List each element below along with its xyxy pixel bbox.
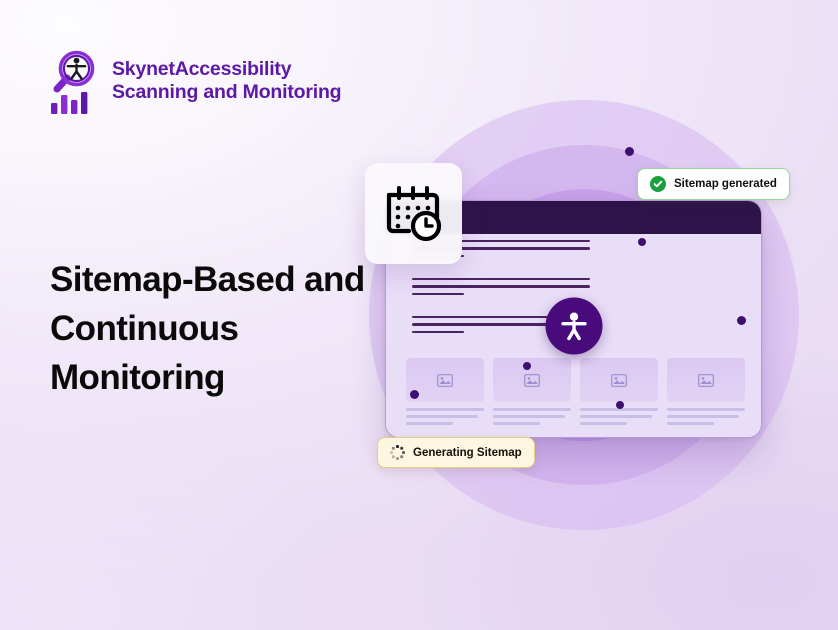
accent-dot xyxy=(638,238,646,246)
hero-banner: SkynetAccessibility Scanning and Monitor… xyxy=(0,0,838,630)
accessibility-person-icon xyxy=(545,298,602,355)
brand-line-2: Scanning and Monitoring xyxy=(112,81,341,104)
accent-dot xyxy=(737,316,746,325)
magnifier-accessibility-bars-icon xyxy=(50,47,100,115)
image-placeholder-icon xyxy=(667,358,745,402)
status-badge-label: Sitemap generated xyxy=(674,178,777,190)
status-badge-label: Generating Sitemap xyxy=(413,447,522,459)
check-circle-icon xyxy=(650,176,666,192)
brand-line-1: SkynetAccessibility xyxy=(112,58,341,81)
content-card xyxy=(667,358,745,429)
calendar-clock-card xyxy=(365,163,462,264)
brand-wordmark: SkynetAccessibility Scanning and Monitor… xyxy=(112,58,341,104)
text-line-group xyxy=(412,278,590,300)
brand-logo[interactable]: SkynetAccessibility Scanning and Monitor… xyxy=(50,47,341,115)
accent-dot xyxy=(410,390,419,399)
status-badge-generating-sitemap[interactable]: Generating Sitemap xyxy=(377,437,535,468)
image-placeholder-icon xyxy=(493,358,571,402)
status-badge-sitemap-generated[interactable]: Sitemap generated xyxy=(637,168,790,200)
accent-dot xyxy=(625,147,634,156)
content-card-row xyxy=(406,358,745,429)
illustration xyxy=(330,60,838,570)
content-card xyxy=(493,358,571,429)
image-placeholder-icon xyxy=(580,358,658,402)
accent-dot xyxy=(616,401,624,409)
browser-content xyxy=(386,234,761,438)
content-card xyxy=(580,358,658,429)
calendar-clock-icon xyxy=(381,181,447,247)
loading-spinner-icon xyxy=(390,445,405,460)
accent-dot xyxy=(523,362,531,370)
